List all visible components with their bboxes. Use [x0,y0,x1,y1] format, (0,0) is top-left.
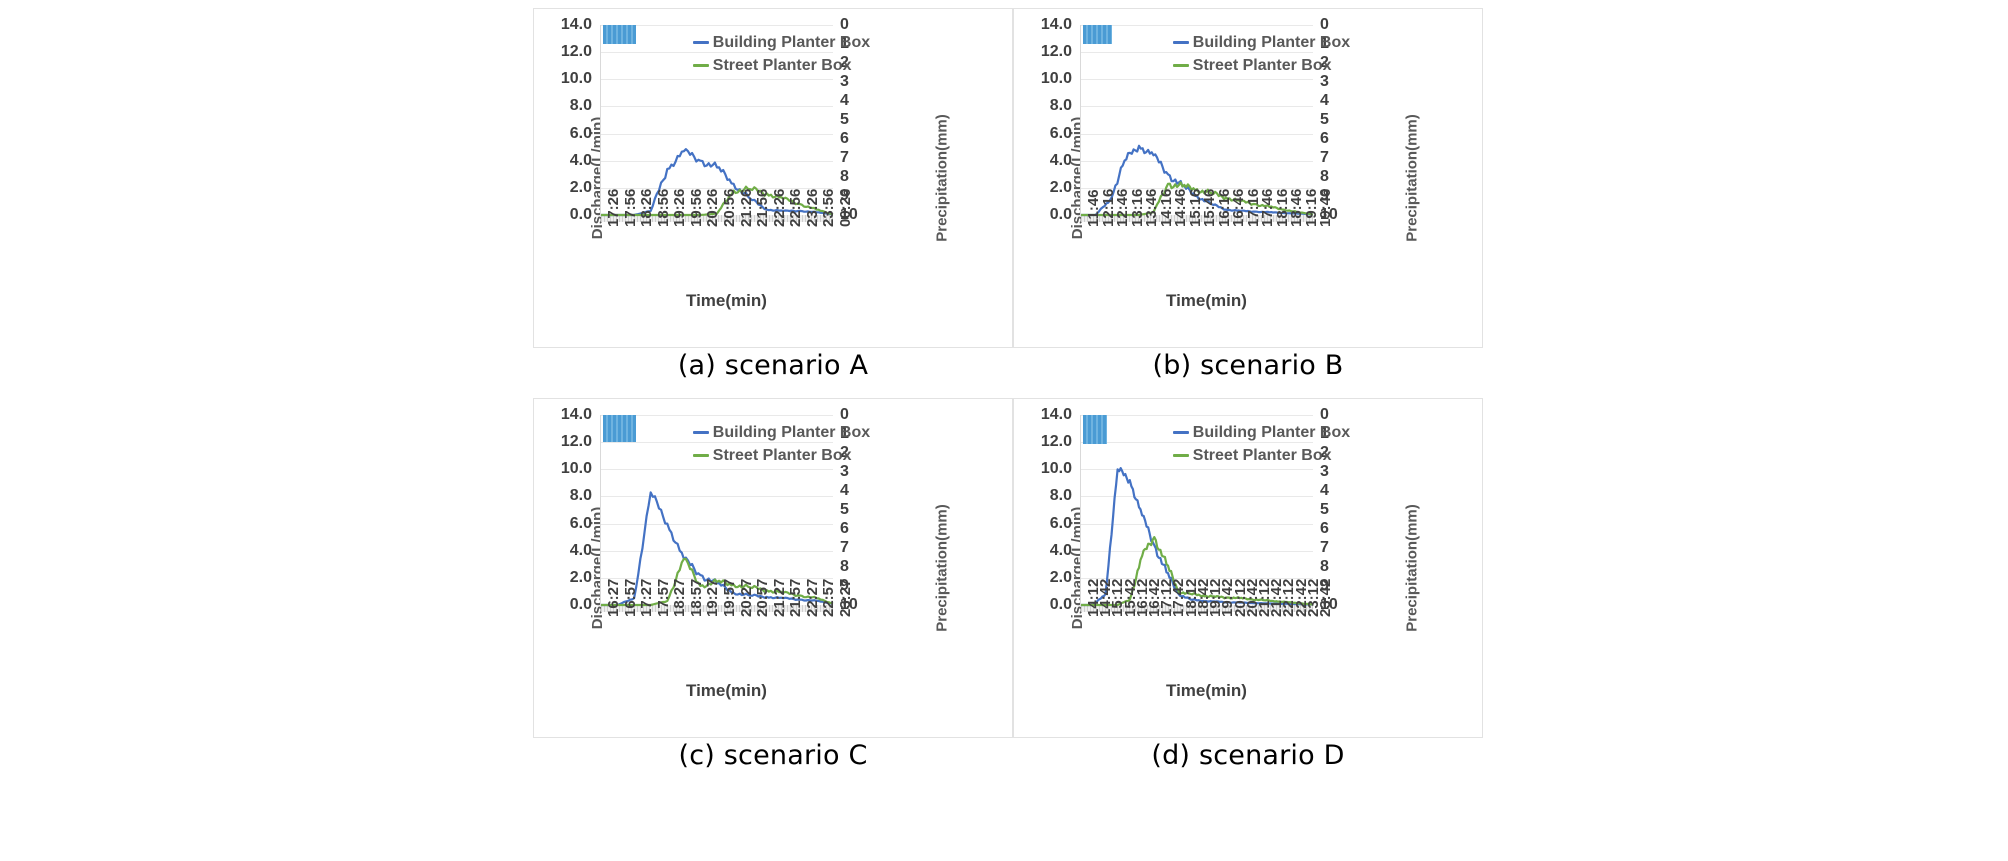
y-tick-right: 5 [840,111,849,129]
x-tick-label: 22:56 [787,189,804,227]
legend-label: Street Planter Box [1193,54,1332,77]
y-axis-title-right: Precipitation(mm) [1404,504,1421,632]
x-tick-label: 18:26 [638,189,655,227]
panel-c: Discharge(L/min)Precipitation(mm)0.02.04… [533,398,1013,788]
y-tick-left: 6.0 [540,125,592,143]
y-tick-left: 8.0 [1020,487,1072,505]
legend-item: Building Planter Box [1173,31,1350,54]
y-tick-right: 8 [840,558,849,576]
x-tick-label: 21:56 [754,189,771,227]
y-tick-left: 0.0 [1020,206,1072,224]
y-tick-left: 10.0 [1020,70,1072,88]
y-tick-left: 12.0 [540,43,592,61]
legend-item: Street Planter Box [693,444,870,467]
x-tick-label: 23:42 [1317,579,1334,617]
y-tick-left: 14.0 [540,406,592,424]
y-tick-right: 7 [840,539,849,557]
y-tick-right: 5 [840,501,849,519]
y-tick-left: 4.0 [1020,542,1072,560]
y-tick-right: 8 [1320,168,1329,186]
panel-grid: Discharge(L/min)Precipitation(mm)0.02.04… [533,8,1483,853]
x-tick-label: 22:27 [804,579,821,617]
legend-label: Street Planter Box [713,54,852,77]
y-tick-left: 6.0 [540,515,592,533]
panel-caption: (c) scenario C [533,742,1013,769]
y-tick-left: 10.0 [540,460,592,478]
legend-label: Street Planter Box [713,444,852,467]
x-tick-label: 22:26 [771,189,788,227]
y-tick-left: 4.0 [540,542,592,560]
x-tick-label: 20:56 [721,189,738,227]
x-tick-label: 19:56 [688,189,705,227]
x-tick-label: 20:27 [738,579,755,617]
x-axis-title: Time(min) [1166,681,1247,701]
y-tick-left: 10.0 [1020,460,1072,478]
y-tick-right: 5 [1320,501,1329,519]
x-tick-label: 22:57 [820,579,837,617]
y-tick-right: 7 [1320,149,1329,167]
y-tick-right: 6 [1320,130,1329,148]
y-tick-right: 8 [840,168,849,186]
y-tick-right: 7 [1320,539,1329,557]
y-tick-right: 6 [840,520,849,538]
y-axis-title-right: Precipitation(mm) [1404,114,1421,242]
x-tick-label: 17:57 [655,579,672,617]
legend: Building Planter BoxStreet Planter Box [693,31,870,77]
panel-caption: (d) scenario D [1013,742,1483,769]
legend-label: Building Planter Box [1193,421,1350,444]
x-tick-label: 17:27 [638,579,655,617]
x-tick-label: 18:57 [688,579,705,617]
x-tick-label: 16:57 [622,579,639,617]
figure-root: Discharge(L/min)Precipitation(mm)0.02.04… [0,0,2008,861]
y-tick-right: 8 [1320,558,1329,576]
legend-label: Building Planter Box [1193,31,1350,54]
x-tick-label: 19:26 [671,189,688,227]
chart-d: Discharge(L/min)Precipitation(mm)0.02.04… [1013,398,1483,738]
chart-c: Discharge(L/min)Precipitation(mm)0.02.04… [533,398,1013,738]
x-tick-label: 19:27 [704,579,721,617]
y-tick-right: 6 [840,130,849,148]
y-axis-title-right: Precipitation(mm) [934,114,951,242]
legend-swatch-icon [1173,454,1189,457]
y-tick-left: 14.0 [540,16,592,34]
legend-swatch-icon [693,454,709,457]
y-tick-left: 10.0 [540,70,592,88]
y-tick-left: 8.0 [540,487,592,505]
y-tick-right: 5 [1320,111,1329,129]
legend-item: Building Planter Box [693,421,870,444]
chart-a: Discharge(L/min)Precipitation(mm)0.02.04… [533,8,1013,348]
y-tick-right: 4 [1320,482,1329,500]
y-tick-left: 0.0 [540,206,592,224]
legend: Building Planter BoxStreet Planter Box [693,421,870,467]
x-tick-label: 19:46 [1317,189,1334,227]
legend-label: Building Planter Box [713,421,870,444]
panel-caption: (a) scenario A [533,352,1013,379]
x-tick-label: 18:56 [655,189,672,227]
panel-a: Discharge(L/min)Precipitation(mm)0.02.04… [533,8,1013,398]
legend-item: Street Planter Box [1173,444,1350,467]
legend: Building Planter BoxStreet Planter Box [1173,421,1350,467]
x-tick-label: 23:26 [804,189,821,227]
x-tick-label: 19:57 [721,579,738,617]
x-tick-label: 17:56 [622,189,639,227]
x-axis-title: Time(min) [1166,291,1247,311]
x-tick-label: 21:26 [738,189,755,227]
y-tick-left: 2.0 [540,569,592,587]
legend-item: Building Planter Box [1173,421,1350,444]
y-tick-left: 8.0 [1020,97,1072,115]
x-tick-label: 18:27 [671,579,688,617]
y-tick-left: 2.0 [1020,569,1072,587]
x-tick-label: 20:57 [754,579,771,617]
y-tick-left: 4.0 [1020,152,1072,170]
legend-swatch-icon [1173,41,1189,44]
y-tick-right: 4 [1320,92,1329,110]
y-tick-left: 8.0 [540,97,592,115]
y-tick-left: 0.0 [1020,596,1072,614]
y-tick-left: 12.0 [540,433,592,451]
x-tick-label: 20:26 [704,189,721,227]
y-axis-title-right: Precipitation(mm) [934,504,951,632]
legend-label: Building Planter Box [713,31,870,54]
x-tick-label: 16:27 [605,579,622,617]
y-tick-left: 2.0 [1020,179,1072,197]
legend-swatch-icon [693,41,709,44]
legend-swatch-icon [693,431,709,434]
y-tick-left: 4.0 [540,152,592,170]
legend-label: Street Planter Box [1193,444,1332,467]
y-tick-right: 4 [840,92,849,110]
x-tick-label: 21:57 [787,579,804,617]
x-tick-label: 23:27 [837,579,854,617]
y-tick-left: 0.0 [540,596,592,614]
legend-swatch-icon [1173,431,1189,434]
x-tick-label: 00:26 [837,189,854,227]
x-axis-title: Time(min) [686,681,767,701]
legend-item: Street Planter Box [693,54,870,77]
panel-b: Discharge(L/min)Precipitation(mm)0.02.04… [1013,8,1483,398]
y-tick-left: 2.0 [540,179,592,197]
y-tick-right: 7 [840,149,849,167]
x-tick-label: 17:26 [605,189,622,227]
x-axis-title: Time(min) [686,291,767,311]
y-tick-left: 12.0 [1020,43,1072,61]
chart-b: Discharge(L/min)Precipitation(mm)0.02.04… [1013,8,1483,348]
y-tick-left: 6.0 [1020,515,1072,533]
panel-d: Discharge(L/min)Precipitation(mm)0.02.04… [1013,398,1483,788]
legend: Building Planter BoxStreet Planter Box [1173,31,1350,77]
panel-caption: (b) scenario B [1013,352,1483,379]
legend-swatch-icon [1173,64,1189,67]
y-tick-right: 4 [840,482,849,500]
y-tick-left: 6.0 [1020,125,1072,143]
x-tick-label: 23:56 [820,189,837,227]
legend-item: Building Planter Box [693,31,870,54]
y-tick-right: 6 [1320,520,1329,538]
y-tick-left: 14.0 [1020,406,1072,424]
x-tick-label: 21:27 [771,579,788,617]
y-tick-left: 12.0 [1020,433,1072,451]
legend-swatch-icon [693,64,709,67]
y-tick-left: 14.0 [1020,16,1072,34]
legend-item: Street Planter Box [1173,54,1350,77]
